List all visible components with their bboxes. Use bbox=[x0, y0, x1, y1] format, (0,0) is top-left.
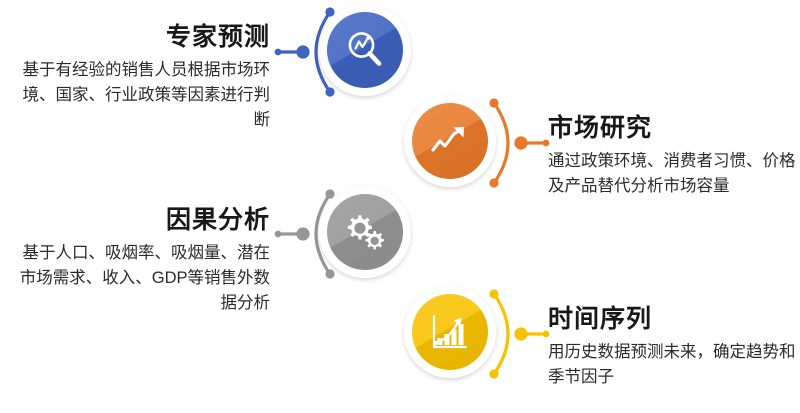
node-timeseries[interactable] bbox=[404, 286, 496, 378]
node-description-causal: 基于人口、吸烟率、吸烟量、潜在市场需求、收入、GDP等销售外数据分析 bbox=[8, 241, 270, 316]
node-market[interactable] bbox=[404, 95, 496, 187]
node-title-market: 市场研究 bbox=[548, 113, 798, 143]
node-disc-timeseries bbox=[412, 294, 488, 370]
infographic-canvas: 专家预测 基于有经验的销售人员根据市场环境、国家、行业政策等因素进行判断 市场研… bbox=[0, 0, 800, 413]
node-description-expert: 基于有经验的销售人员根据市场环境、国家、行业政策等因素进行判断 bbox=[8, 58, 270, 133]
connector-market bbox=[488, 97, 552, 189]
text-block-market: 市场研究 通过政策环境、消费者习惯、价格及产品替代分析市场容量 bbox=[548, 113, 798, 199]
text-block-timeseries: 时间序列 用历史数据预测未来，确定趋势和季节因子 bbox=[548, 304, 798, 390]
gears-icon bbox=[340, 209, 390, 255]
connector-timeseries bbox=[488, 288, 552, 380]
node-disc-expert bbox=[327, 12, 403, 88]
text-block-causal: 因果分析 基于人口、吸烟率、吸烟量、潜在市场需求、收入、GDP等销售外数据分析 bbox=[8, 205, 270, 316]
node-description-timeseries: 用历史数据预测未来，确定趋势和季节因子 bbox=[548, 340, 798, 390]
bar-chart-growth-icon bbox=[426, 308, 474, 356]
node-expert[interactable] bbox=[319, 4, 411, 96]
text-block-expert: 专家预测 基于有经验的销售人员根据市场环境、国家、行业政策等因素进行判断 bbox=[8, 22, 270, 133]
magnifier-chart-icon bbox=[342, 27, 388, 73]
node-title-causal: 因果分析 bbox=[8, 205, 270, 235]
node-disc-causal bbox=[327, 194, 403, 270]
trend-arrow-icon bbox=[426, 117, 474, 165]
node-title-timeseries: 时间序列 bbox=[548, 304, 798, 334]
node-description-market: 通过政策环境、消费者习惯、价格及产品替代分析市场容量 bbox=[548, 149, 798, 199]
node-causal[interactable] bbox=[319, 186, 411, 278]
node-disc-market bbox=[412, 103, 488, 179]
node-title-expert: 专家预测 bbox=[8, 22, 270, 52]
